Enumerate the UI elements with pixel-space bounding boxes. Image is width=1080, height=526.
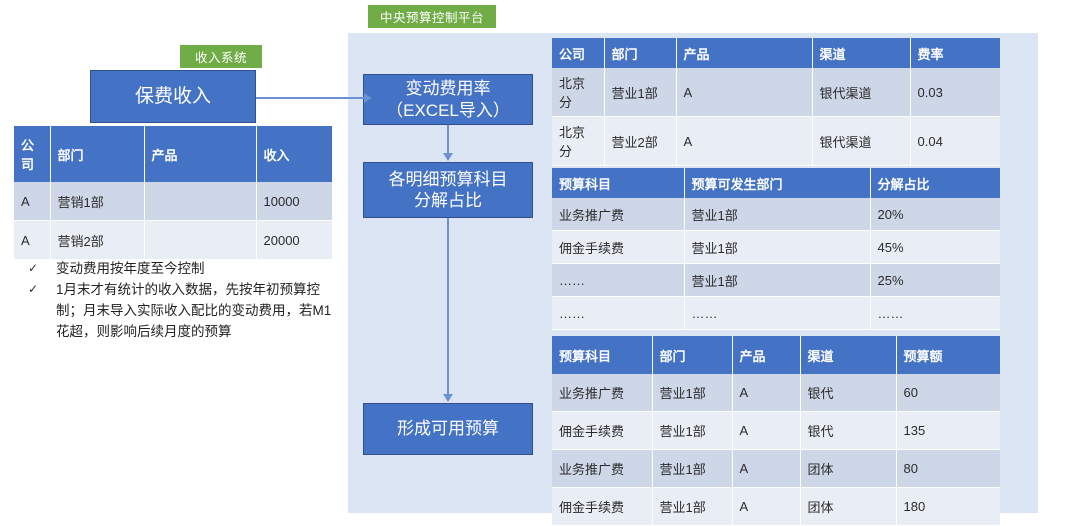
table-row: 佣金手续费营业1部A团体180: [552, 488, 1000, 526]
arrow-down-icon: [443, 394, 453, 402]
check-icon: ✓: [28, 258, 56, 279]
cell-2: 20%: [870, 198, 1000, 231]
cell-1: 营销2部: [50, 221, 144, 260]
cell-4: 135: [896, 412, 1000, 450]
table-row: 佣金手续费营业1部A银代135: [552, 412, 1000, 450]
process-box-subject-breakdown-ratio[interactable]: 各明细预算科目 分解占比: [363, 162, 533, 218]
table-row: ……营业1部25%: [552, 264, 1000, 297]
variable-rate-line-2: （EXCEL导入）: [386, 101, 510, 120]
connector-income-to-rate: [256, 97, 368, 99]
central-platform-label: 中央预算控制平台: [368, 5, 496, 28]
cell-2: A: [676, 68, 812, 117]
cell-1: 营业1部: [652, 374, 732, 412]
table-row: A营销2部20000: [14, 221, 332, 260]
cell-0: 北京分: [552, 117, 604, 166]
table-row: 业务推广费营业1部A团体80: [552, 450, 1000, 488]
cell-3: 银代渠道: [812, 117, 910, 166]
column-header-0: 预算科目: [552, 336, 652, 374]
process-box-premium-income[interactable]: 保费收入: [90, 70, 256, 123]
cell-0: 业务推广费: [552, 374, 652, 412]
process-box-available-budget[interactable]: 形成可用预算: [363, 403, 533, 455]
cell-2: [144, 182, 256, 221]
cell-1: 营业1部: [652, 412, 732, 450]
column-header-4: 费率: [910, 38, 1000, 68]
column-header-1: 预算可发生部门: [684, 168, 870, 198]
table-row: 业务推广费营业1部20%: [552, 198, 1000, 231]
connector-breakdown-to-budget: [447, 218, 449, 395]
note-item: ✓1月末才有统计的收入数据，先按年初预算控制；月末导入实际收入配比的变动费用，若…: [28, 279, 338, 342]
column-header-3: 渠道: [812, 38, 910, 68]
arrow-down-icon: [443, 153, 453, 161]
cell-4: 60: [896, 374, 1000, 412]
table-row: 北京分营业1部A银代渠道0.03: [552, 68, 1000, 117]
cell-0: 业务推广费: [552, 198, 684, 231]
cell-2: A: [732, 488, 800, 526]
cell-1: 营业2部: [604, 117, 676, 166]
cell-1: 营业1部: [652, 488, 732, 526]
income-table-body: A营销1部10000A营销2部20000: [14, 182, 332, 260]
cell-3: 团体: [800, 488, 896, 526]
cell-2: ……: [870, 297, 1000, 330]
cell-3: 团体: [800, 450, 896, 488]
column-header-2: 产品: [732, 336, 800, 374]
note-item: ✓变动费用按年度至今控制: [28, 258, 338, 279]
table-header-row: 公司部门产品收入: [14, 126, 332, 182]
column-header-2: 分解占比: [870, 168, 1000, 198]
cell-0: A: [14, 221, 50, 260]
cell-3: 10000: [256, 182, 332, 221]
cell-0: 佣金手续费: [552, 488, 652, 526]
variable-rate-line-1: 变动费用率: [406, 79, 491, 98]
column-header-1: 部门: [652, 336, 732, 374]
cell-2: A: [732, 374, 800, 412]
note-text: 变动费用按年度至今控制: [56, 258, 338, 279]
cell-3: 银代: [800, 412, 896, 450]
cell-2: [144, 221, 256, 260]
table-row: A营销1部10000: [14, 182, 332, 221]
column-header-4: 预算额: [896, 336, 1000, 374]
arrow-right-icon: [364, 93, 372, 103]
process-box-variable-fee-rate-label: 变动费用率 （EXCEL导入）: [386, 78, 510, 121]
cell-0: 佣金手续费: [552, 231, 684, 264]
notes-list: ✓变动费用按年度至今控制✓1月末才有统计的收入数据，先按年初预算控制；月末导入实…: [28, 258, 338, 342]
cell-2: A: [732, 450, 800, 488]
cell-0: 佣金手续费: [552, 412, 652, 450]
table-row: 佣金手续费营业1部45%: [552, 231, 1000, 264]
cell-3: 20000: [256, 221, 332, 260]
cell-0: ……: [552, 297, 684, 330]
cell-4: 0.03: [910, 68, 1000, 117]
cell-4: 80: [896, 450, 1000, 488]
table-row: 业务推广费营业1部A银代60: [552, 374, 1000, 412]
cell-2: 45%: [870, 231, 1000, 264]
ratio-table-body: 业务推广费营业1部20%佣金手续费营业1部45%……营业1部25%………………: [552, 198, 1000, 330]
process-box-premium-income-label: 保费收入: [135, 85, 211, 109]
fee-rate-table-body: 北京分营业1部A银代渠道0.03北京分营业2部A银代渠道0.04: [552, 68, 1000, 166]
table-header-row: 预算科目部门产品渠道预算额: [552, 336, 1000, 374]
cell-3: 银代: [800, 374, 896, 412]
column-header-3: 渠道: [800, 336, 896, 374]
note-text: 1月末才有统计的收入数据，先按年初预算控制；月末导入实际收入配比的变动费用，若M…: [56, 279, 338, 342]
cell-3: 银代渠道: [812, 68, 910, 117]
budget-table-body: 业务推广费营业1部A银代60佣金手续费营业1部A银代135业务推广费营业1部A团…: [552, 374, 1000, 526]
cell-1: 营业1部: [652, 450, 732, 488]
table-row: 北京分营业2部A银代渠道0.04: [552, 117, 1000, 166]
column-header-0: 公司: [552, 38, 604, 68]
cell-0: A: [14, 182, 50, 221]
cell-0: 业务推广费: [552, 450, 652, 488]
available-budget-table: 预算科目部门产品渠道预算额 业务推广费营业1部A银代60佣金手续费营业1部A银代…: [552, 336, 1000, 526]
column-header-2: 产品: [676, 38, 812, 68]
cell-2: A: [676, 117, 812, 166]
column-header-0: 公司: [14, 126, 50, 182]
column-header-0: 预算科目: [552, 168, 684, 198]
revenue-system-label: 收入系统: [180, 45, 262, 68]
cell-0: 北京分: [552, 68, 604, 117]
column-header-1: 部门: [50, 126, 144, 182]
process-box-subject-breakdown-ratio-label: 各明细预算科目 分解占比: [389, 169, 508, 212]
table-row: ………………: [552, 297, 1000, 330]
column-header-3: 收入: [256, 126, 332, 182]
column-header-2: 产品: [144, 126, 256, 182]
cell-4: 0.04: [910, 117, 1000, 166]
cell-0: ……: [552, 264, 684, 297]
column-header-1: 部门: [604, 38, 676, 68]
cell-2: A: [732, 412, 800, 450]
cell-4: 180: [896, 488, 1000, 526]
breakdown-line-2: 分解占比: [414, 191, 482, 210]
cell-1: ……: [684, 297, 870, 330]
budget-breakdown-ratio-table: 预算科目预算可发生部门分解占比 业务推广费营业1部20%佣金手续费营业1部45%…: [552, 168, 1000, 330]
cell-1: 营业1部: [684, 231, 870, 264]
check-icon: ✓: [28, 279, 56, 300]
income-table: 公司部门产品收入 A营销1部10000A营销2部20000: [14, 126, 332, 260]
table-header-row: 公司部门产品渠道费率: [552, 38, 1000, 68]
cell-1: 营销1部: [50, 182, 144, 221]
cell-2: 25%: [870, 264, 1000, 297]
process-box-available-budget-label: 形成可用预算: [397, 418, 499, 439]
fee-rate-table: 公司部门产品渠道费率 北京分营业1部A银代渠道0.03北京分营业2部A银代渠道0…: [552, 38, 1000, 166]
cell-1: 营业1部: [684, 198, 870, 231]
breakdown-line-1: 各明细预算科目: [389, 170, 508, 189]
process-box-variable-fee-rate[interactable]: 变动费用率 （EXCEL导入）: [363, 74, 533, 125]
table-header-row: 预算科目预算可发生部门分解占比: [552, 168, 1000, 198]
cell-1: 营业1部: [604, 68, 676, 117]
cell-1: 营业1部: [684, 264, 870, 297]
connector-rate-to-breakdown: [447, 125, 449, 154]
